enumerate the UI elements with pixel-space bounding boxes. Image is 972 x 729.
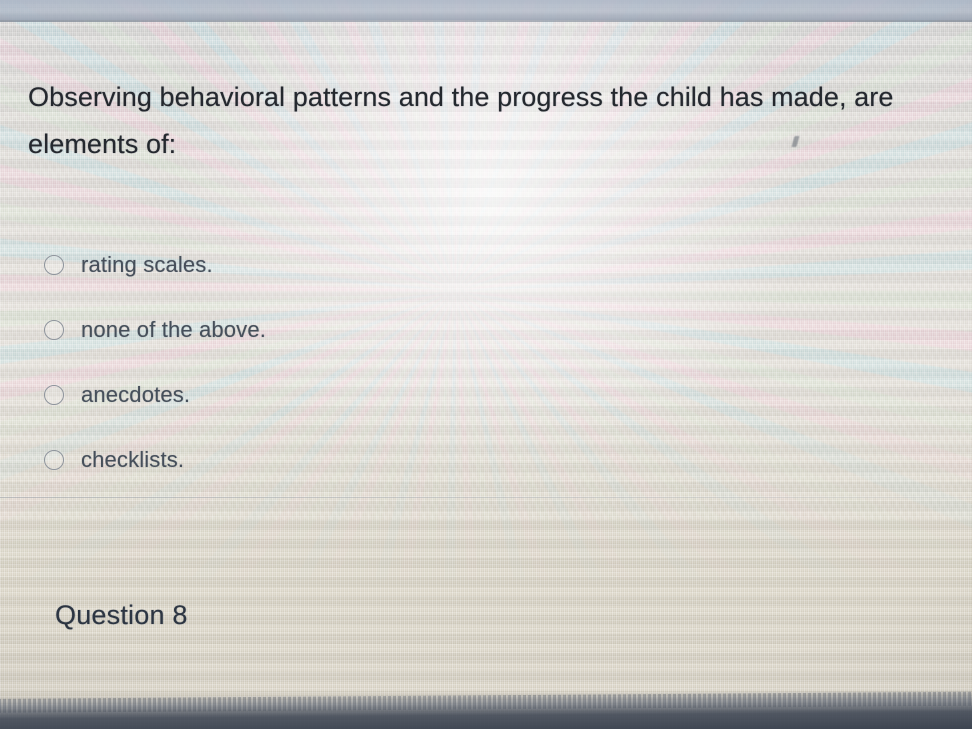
monitor-bezel bbox=[0, 690, 972, 729]
question-prompt: Observing behavioral patterns and the pr… bbox=[28, 74, 958, 168]
section-divider bbox=[0, 497, 972, 498]
option-label: anecdotes. bbox=[81, 382, 190, 408]
radio-button-icon[interactable] bbox=[44, 320, 64, 340]
radio-button-icon[interactable] bbox=[44, 450, 64, 470]
next-question-heading: Question 8 bbox=[55, 600, 188, 631]
option-label: none of the above. bbox=[81, 317, 266, 343]
option-checklists[interactable]: checklists. bbox=[44, 427, 564, 492]
radio-button-icon[interactable] bbox=[44, 255, 64, 275]
option-rating-scales[interactable]: rating scales. bbox=[44, 232, 564, 297]
option-label: rating scales. bbox=[81, 252, 213, 278]
option-anecdotes[interactable]: anecdotes. bbox=[44, 362, 564, 427]
radio-button-icon[interactable] bbox=[44, 385, 64, 405]
monitor-photo-screen: Observing behavioral patterns and the pr… bbox=[0, 0, 972, 729]
option-label: checklists. bbox=[81, 447, 184, 473]
quiz-content: Observing behavioral patterns and the pr… bbox=[0, 0, 972, 729]
answer-options-list: rating scales. none of the above. anecdo… bbox=[44, 232, 564, 492]
option-none-of-the-above[interactable]: none of the above. bbox=[44, 297, 564, 362]
